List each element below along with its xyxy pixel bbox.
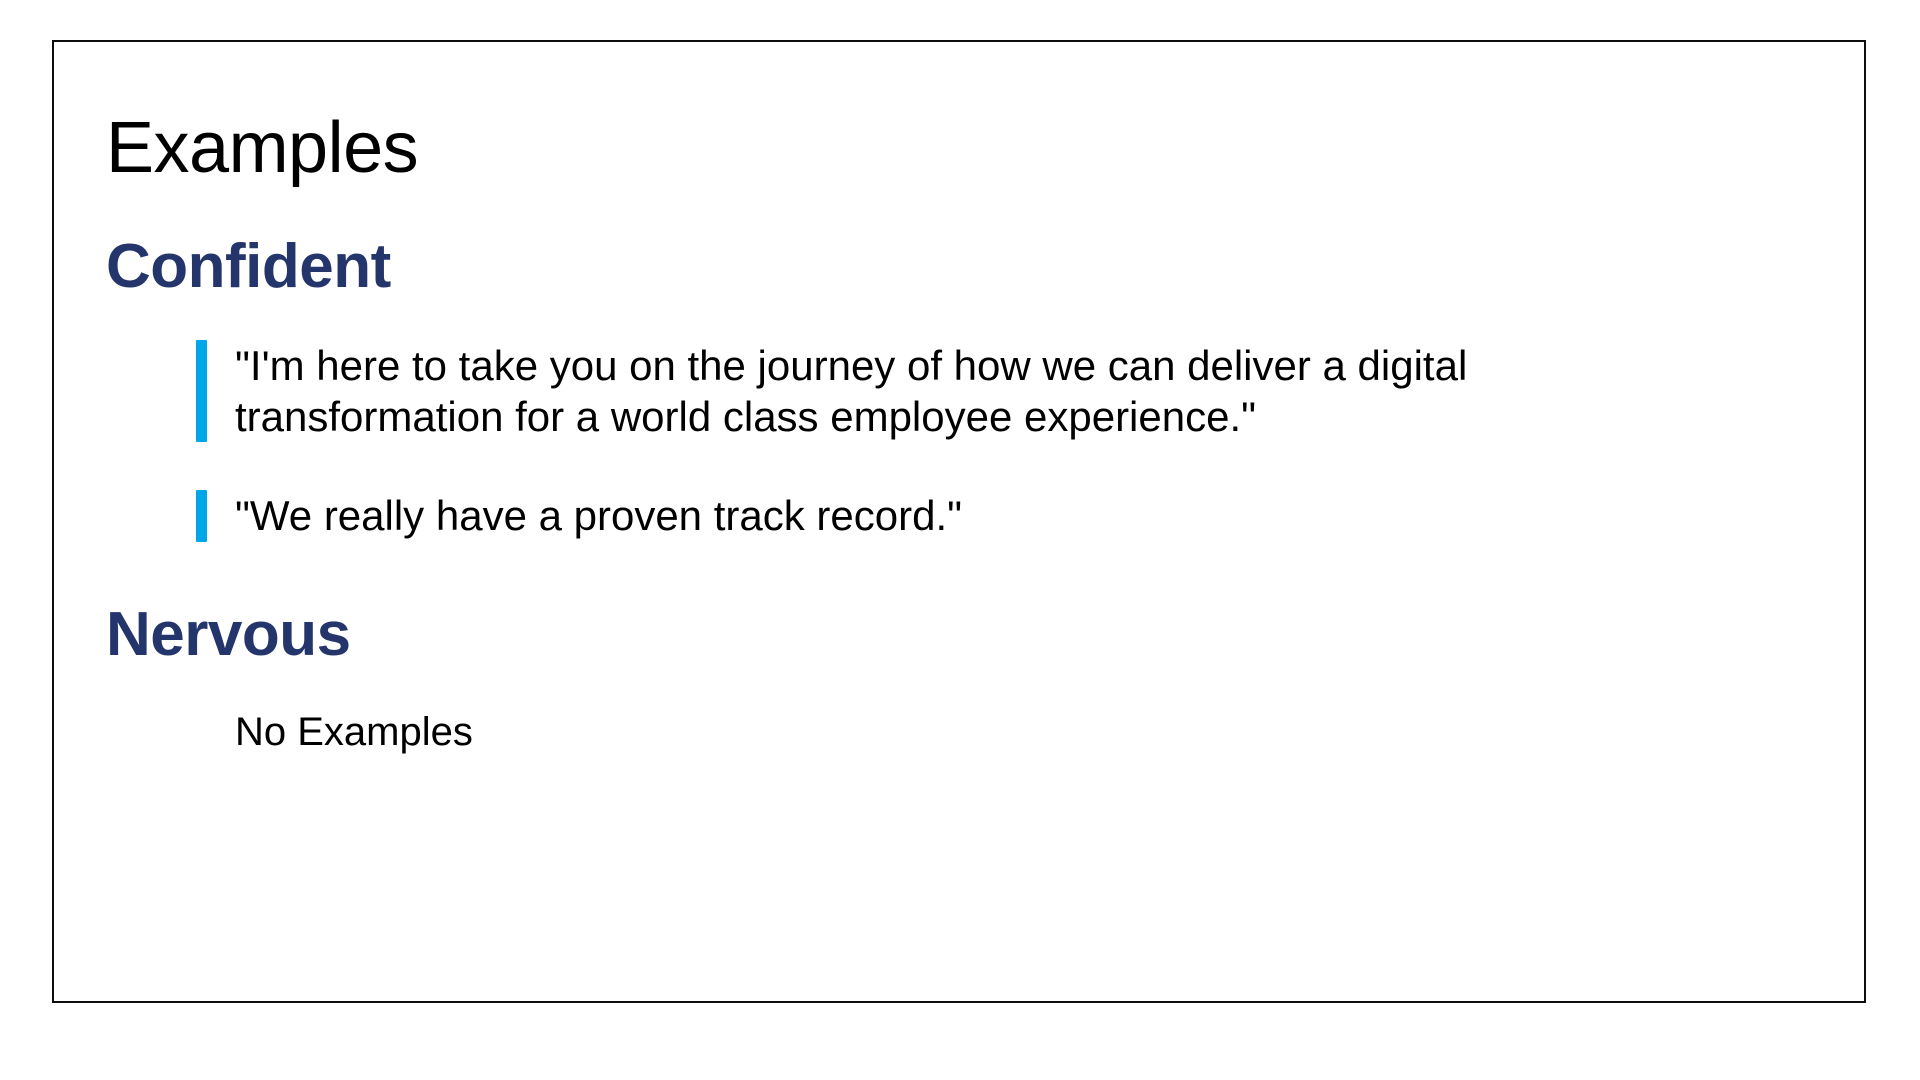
quote-accent-bar-icon bbox=[196, 490, 207, 541]
section-heading-confident: Confident bbox=[106, 184, 1824, 298]
quote-item: "We really have a proven track record." bbox=[196, 490, 1824, 541]
page-title: Examples bbox=[106, 94, 1824, 184]
quote-item: "I'm here to take you on the journey of … bbox=[196, 340, 1824, 442]
section-heading-nervous: Nervous bbox=[106, 542, 1824, 666]
nervous-empty-note: No Examples bbox=[235, 666, 1824, 756]
quote-text: "We really have a proven track record." bbox=[235, 490, 962, 541]
quote-text: "I'm here to take you on the journey of … bbox=[235, 340, 1710, 442]
quote-list-confident: "I'm here to take you on the journey of … bbox=[106, 340, 1824, 542]
slide-content: Examples Confident "I'm here to take you… bbox=[106, 94, 1824, 981]
quote-accent-bar-icon bbox=[196, 340, 207, 442]
slide-card: Examples Confident "I'm here to take you… bbox=[52, 40, 1866, 1003]
slide-root: Examples Confident "I'm here to take you… bbox=[0, 0, 1920, 1080]
